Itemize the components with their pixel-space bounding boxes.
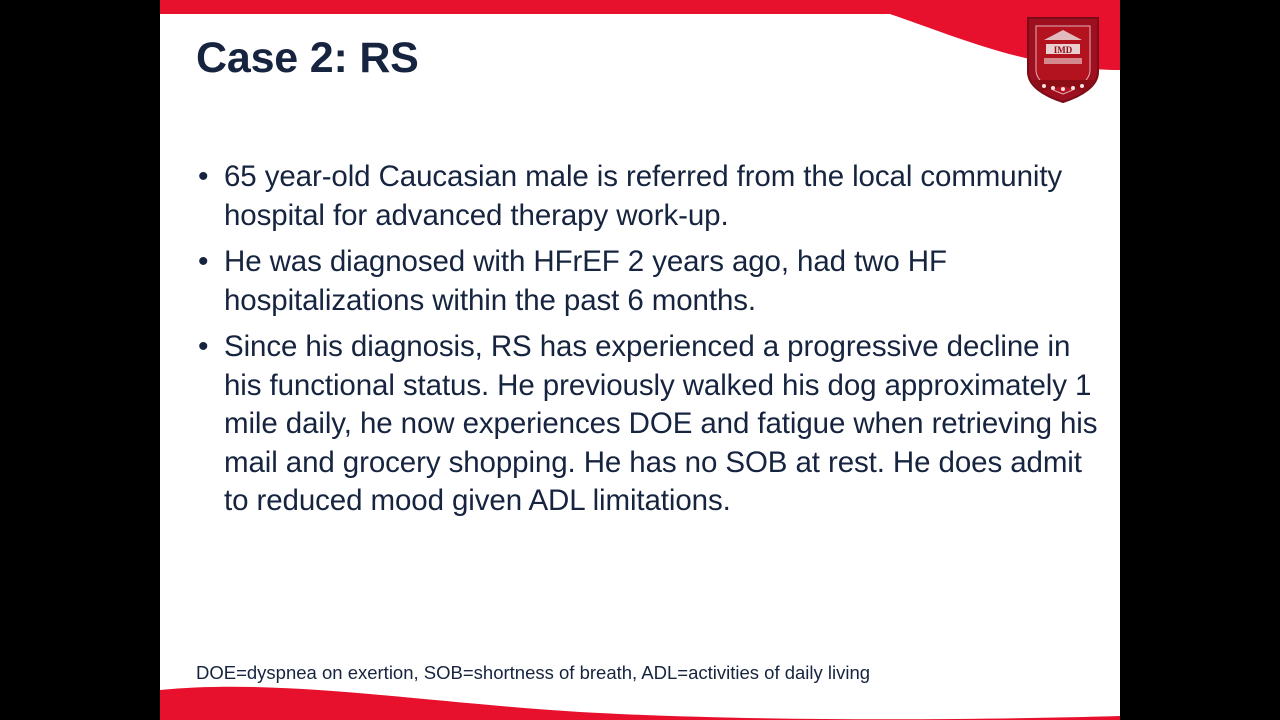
institution-crest-logo: IMD bbox=[1024, 14, 1102, 106]
page-title: Case 2: RS bbox=[196, 34, 419, 83]
abbreviations-footnote: DOE=dyspnea on exertion, SOB=shortness o… bbox=[196, 662, 870, 684]
list-item: • 65 year-old Caucasian male is referred… bbox=[190, 158, 1100, 235]
bullet-point-icon: • bbox=[190, 158, 224, 196]
bullet-point-icon: • bbox=[190, 243, 224, 281]
bullet-list: • 65 year-old Caucasian male is referred… bbox=[190, 158, 1100, 529]
bullet-text: 65 year-old Caucasian male is referred f… bbox=[224, 158, 1100, 235]
slide: IMD Case 2: RS • 65 year-old Caucasian m… bbox=[160, 0, 1120, 720]
list-item: • Since his diagnosis, RS has experience… bbox=[190, 328, 1100, 521]
list-item: • He was diagnosed with HFrEF 2 years ag… bbox=[190, 243, 1100, 320]
svg-text:IMD: IMD bbox=[1054, 45, 1073, 55]
bullet-text: Since his diagnosis, RS has experienced … bbox=[224, 328, 1100, 521]
screen: IMD Case 2: RS • 65 year-old Caucasian m… bbox=[0, 0, 1280, 720]
bullet-text: He was diagnosed with HFrEF 2 years ago,… bbox=[224, 243, 1100, 320]
bullet-point-icon: • bbox=[190, 328, 224, 366]
